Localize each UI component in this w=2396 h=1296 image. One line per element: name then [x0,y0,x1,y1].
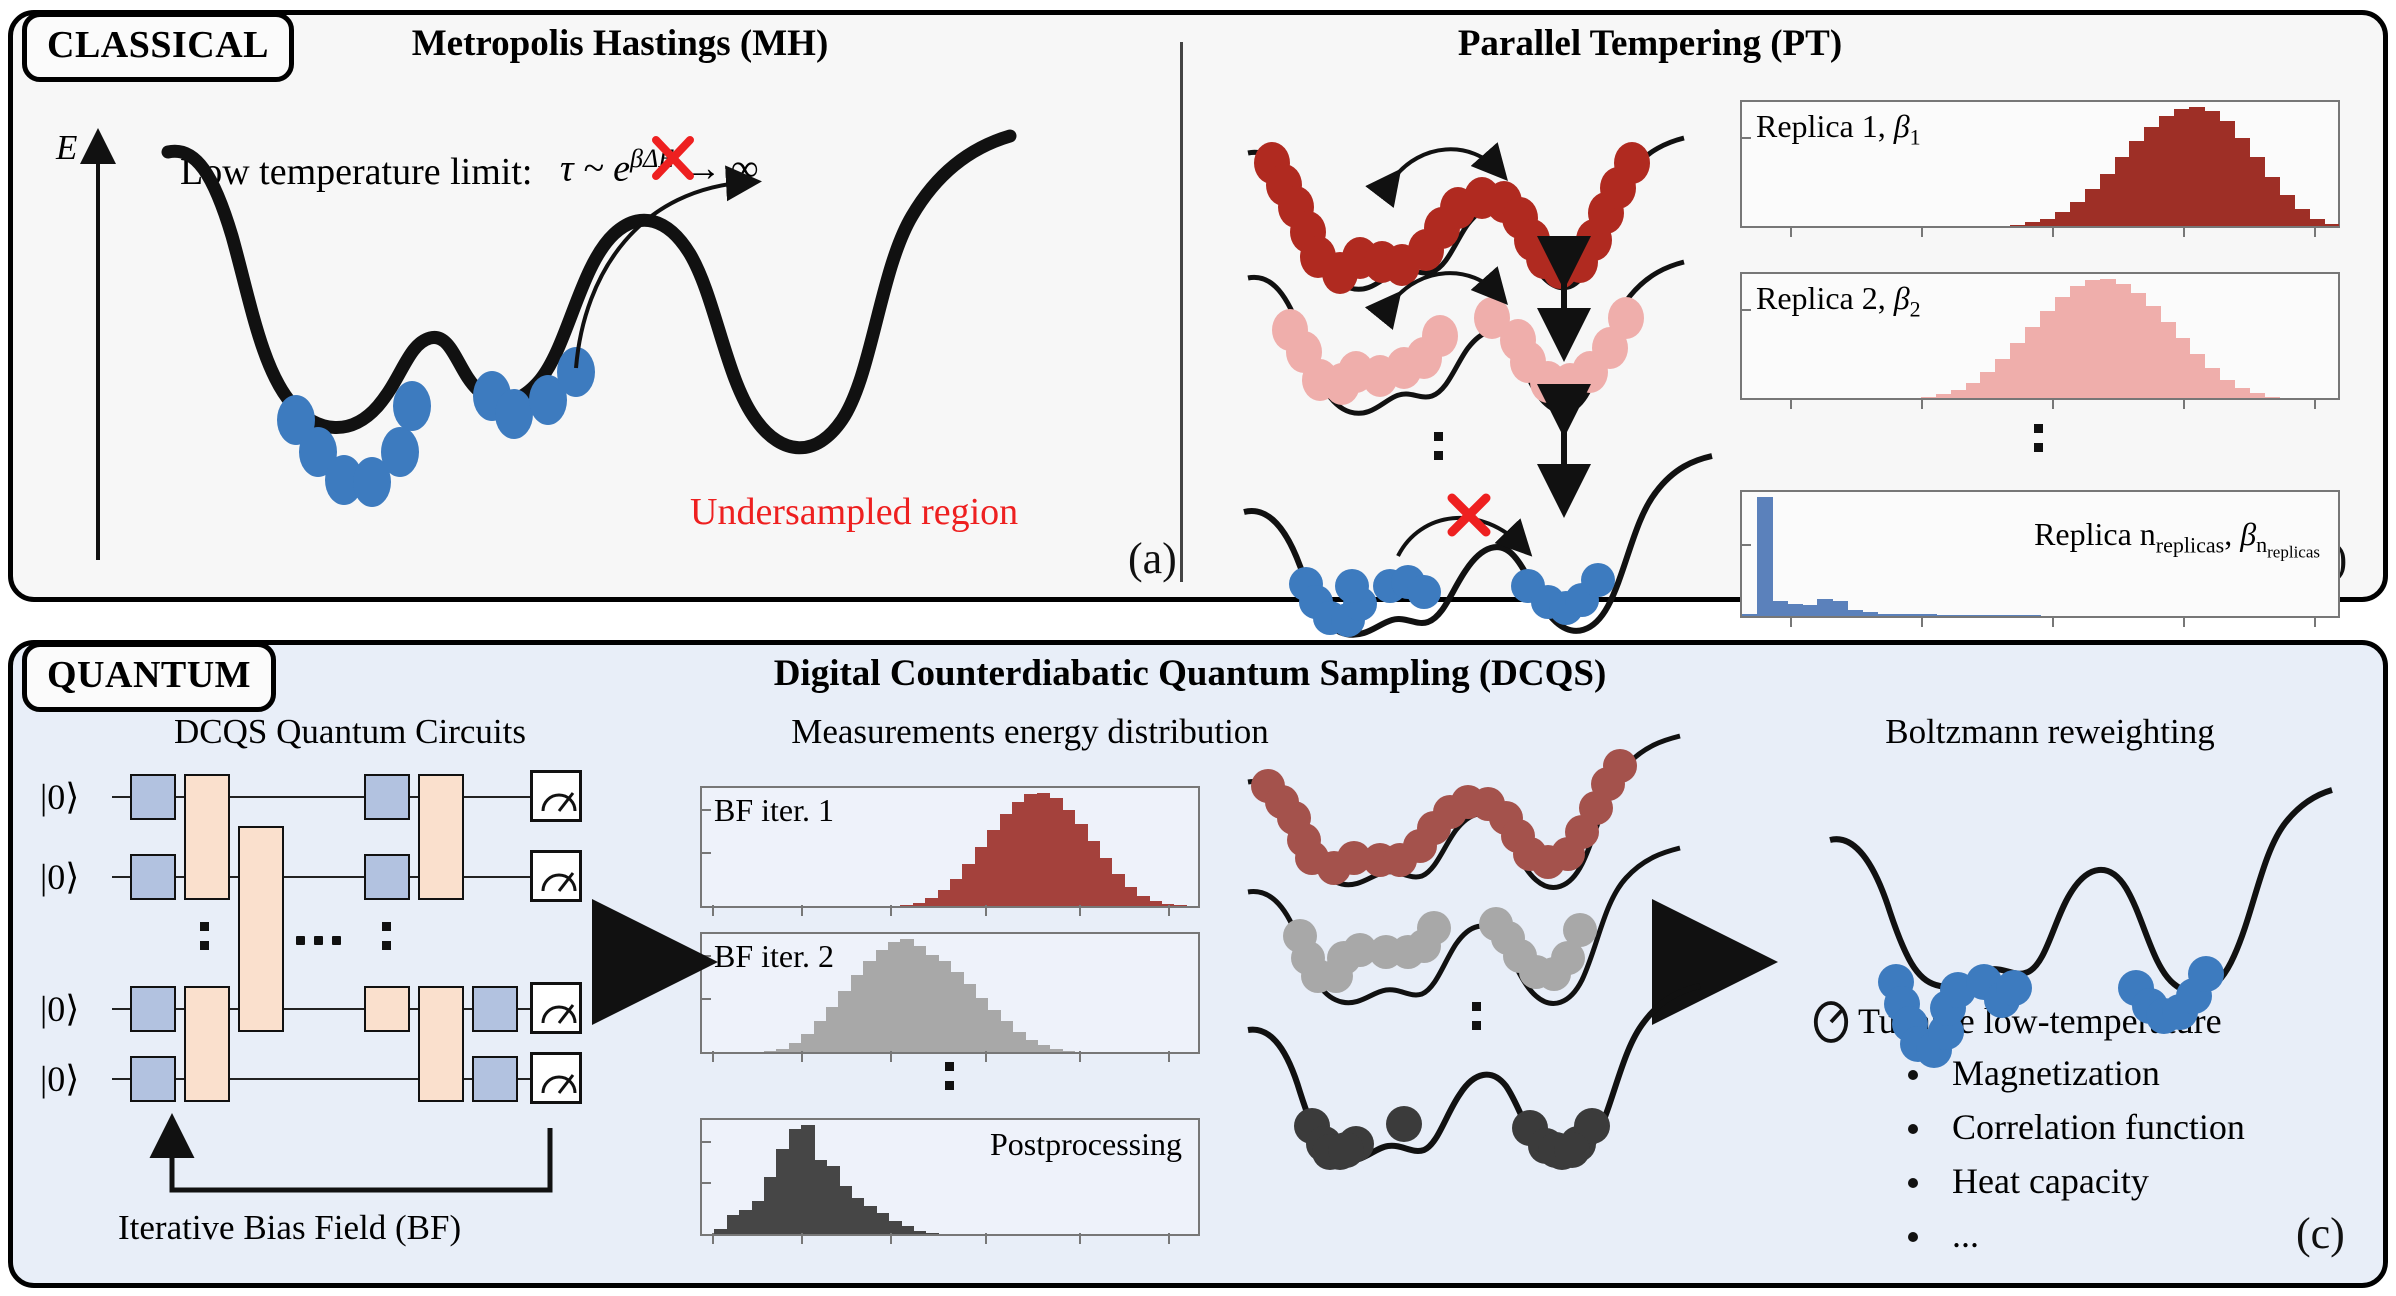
gate-blue-q3-c5 [472,1056,518,1102]
gate-blue-q2-c5 [472,986,518,1032]
replica-continuation-dots [2034,424,2043,452]
y-axis-ticks [700,934,712,1052]
replica-2-label: Replica 2, β2 [1756,280,1921,322]
measure-q0 [530,770,582,822]
x-axis-ticks [1742,398,2338,410]
postprocessing-histogram-box: Postprocessing [700,1118,1200,1236]
gate-peach-q2q3-c4 [418,986,464,1102]
qubit-1-wire [112,876,572,878]
dcqs-landscape-continuation-dots [1472,1002,1481,1030]
histogram-bar [2204,368,2220,398]
classical-section-pill: CLASSICAL [22,12,294,82]
y-axis-ticks [700,1120,712,1234]
pt-landscape-continuation-dots [1434,432,1443,460]
gate-blue-q3-c1 [130,1056,176,1102]
histogram-bar [2159,322,2175,398]
x-axis-ticks [702,905,1198,917]
y-axis-ticks [1740,274,1752,398]
measure-q1 [530,850,582,902]
list-item: ... [1900,1214,2245,1256]
dcqs-circuits-heading: DCQS Quantum Circuits [40,712,660,752]
histogram-bar [2159,116,2175,226]
bf-iter-1-histogram-box: BF iter. 1 [700,786,1200,908]
histogram-bar [1802,605,1818,616]
qubit-3-ket: |0⟩ [40,1058,79,1100]
beta-symbol: β [1894,280,1910,316]
histogram-bar [2010,343,2026,398]
replica-n-histogram-box: Replica nreplicas, βnreplicas [1740,490,2340,618]
gate-blue-q0-c5 [364,774,410,820]
circuit-vertical-dots-right [382,922,391,950]
beta-symbol: β [1894,108,1910,144]
list-item: Heat capacity [1900,1160,2245,1202]
beta-subscript: nreplicas [2256,532,2320,557]
gate-peach-span-c3 [238,826,284,1032]
list-item: Magnetization [1900,1052,2245,1094]
postprocessing-label: Postprocessing [990,1126,1182,1163]
qubit-0-ket: |0⟩ [40,776,79,818]
measure-q2 [530,982,582,1034]
quantum-section-pill: QUANTUM [22,642,276,712]
formula-tilde: ~ [583,148,604,190]
panel-label-a: (a) [1128,533,1177,584]
beta-symbol: β [2240,516,2256,552]
qubit-1-ket: |0⟩ [40,856,79,898]
dcqs-title: Digital Counterdiabatic Quantum Sampling… [560,652,1820,695]
gate-blue-q0-c1 [130,774,176,820]
histogram-bar [1757,497,1773,616]
qubit-0-wire [112,796,572,798]
panel-a-b-divider [1180,42,1183,582]
histogram-bar [2234,388,2250,398]
bf-continuation-dots [945,1062,954,1090]
histogram-bar [2085,280,2101,398]
bf-iter-1-label: BF iter. 1 [714,792,834,829]
beta-subscript: 2 [1910,296,1921,321]
bf-iter-2-histogram-box: BF iter. 2 [700,932,1200,1054]
histogram-bar [1831,601,1847,616]
formula-limit: ∞ [731,148,758,190]
gate-peach-q0q1-c2 [184,774,230,900]
parallel-tempering-title: Parallel Tempering (PT) [1330,22,1970,65]
relaxation-time-formula: τ ~ eβΔE → ∞ [560,144,758,191]
histogram-bar [2174,109,2190,226]
histogram-bar [2100,279,2116,398]
boltzmann-heading: Boltzmann reweighting [1760,712,2340,752]
dcqs-quantum-circuit: |0⟩ |0⟩ |0⟩ |0⟩ [40,770,650,1140]
y-axis-ticks [700,788,712,906]
replica-2-histogram-box: Replica 2, β2 [1740,272,2340,400]
qubit-2-ket: |0⟩ [40,988,79,1030]
histogram-bar [2204,111,2220,226]
histogram-bar [2249,157,2265,226]
formula-tau: τ [560,148,574,190]
measure-q3 [530,1052,582,1104]
x-axis-ticks [1742,616,2338,628]
beta-subscript: 1 [1910,124,1921,149]
histogram-bar [2129,293,2145,398]
histogram-bar [2100,174,2116,226]
histogram-bar [2129,141,2145,226]
iterative-bias-field-caption: Iterative Bias Field (BF) [118,1208,461,1248]
figure-root: CLASSICAL Metropolis Hastings (MH) Paral… [0,0,2396,1296]
histogram-bar [2055,212,2071,226]
formula-base: e [613,148,630,190]
histogram-bar [1980,372,1996,398]
histogram-bar [2055,297,2071,398]
x-axis-ticks [702,1233,1198,1245]
meter-icon [533,853,585,905]
gate-peach-q2-c4 [364,986,410,1032]
histogram-bar [2308,219,2324,226]
formula-exponent: βΔE [630,144,674,173]
y-axis-ticks [1740,492,1752,616]
gate-blue-q2-c1 [130,986,176,1032]
meter-icon [533,1055,585,1107]
replica-n-label: Replica nreplicas, βnreplicas [2034,516,2320,563]
histogram-bar [2174,338,2190,398]
circuit-horizontal-dots [296,936,341,945]
histogram-bar [2025,327,2041,398]
y-axis-ticks [1740,102,1752,226]
circuit-vertical-dots-left [200,922,209,950]
panel-label-c: (c) [2296,1208,2345,1259]
metropolis-hastings-title: Metropolis Hastings (MH) [300,22,940,65]
gate-peach-q0q1-c4 [418,774,464,900]
bf-iter-2-label: BF iter. 2 [714,938,834,975]
tunable-low-temperature-label: Tunable low-temperature [1810,1000,2222,1042]
gate-blue-q1-c1 [130,854,176,900]
x-axis-ticks [1742,226,2338,238]
meter-icon [533,773,585,825]
meter-icon [533,985,585,1037]
histogram-bar [2085,189,2101,226]
undersampled-region-label: Undersampled region [690,490,1018,534]
histogram-bar [2234,138,2250,226]
histogram-bar [2278,195,2294,226]
formula-arrow: → [684,148,722,190]
gate-blue-q1-c5 [364,854,410,900]
gate-peach-q2q3-c2 [184,986,230,1102]
list-item: Correlation function [1900,1106,2245,1148]
low-temperature-limit-label: Low temperature limit: [180,150,532,194]
replica-1-histogram-box: Replica 1, β1 [1740,100,2340,228]
energy-axis-label: E [56,128,77,168]
replica-1-label: Replica 1, β1 [1756,108,1921,150]
histogram-bar [1787,604,1803,616]
observables-bullet-list: Magnetization Correlation function Heat … [1900,1052,2245,1268]
histogram-bar [1951,390,1967,398]
measurements-heading: Measurements energy distribution [680,712,1380,752]
